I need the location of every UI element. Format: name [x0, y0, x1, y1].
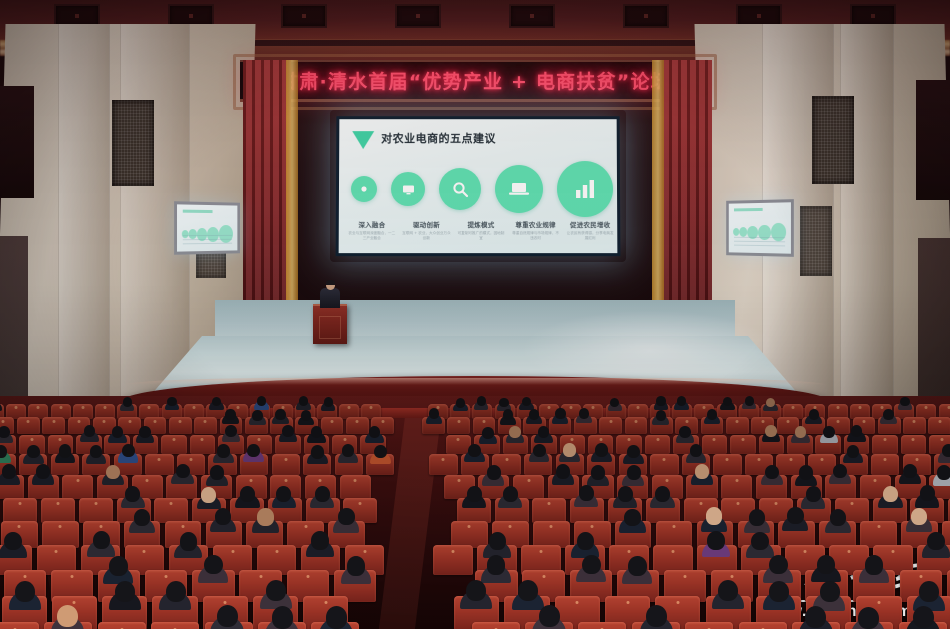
audience-head [109, 556, 128, 576]
audience-head [93, 531, 111, 550]
seat [901, 435, 927, 454]
audience-head [301, 410, 311, 421]
audience-head [123, 397, 132, 407]
slide-surface: 对农业电商的五点建议 深入 [339, 119, 618, 253]
wooden-podium [313, 304, 347, 344]
audience-head [217, 444, 230, 457]
audience-head [125, 486, 140, 502]
audience-head [577, 532, 595, 551]
audience-head [347, 556, 366, 576]
audience-head [0, 426, 10, 438]
audience-head [225, 409, 235, 420]
slide-item: 深入融合 农业与互联网深度融合，一二三产业融合 [347, 219, 397, 242]
audience-head [858, 607, 879, 629]
audience-head [745, 396, 754, 406]
left-dark-recess [0, 86, 34, 198]
seat [872, 435, 898, 454]
audience-head [106, 465, 120, 480]
right-acoustic-panel-2 [800, 206, 832, 276]
audience-head [311, 426, 323, 438]
audience-head [538, 426, 550, 438]
audience-head [809, 409, 819, 420]
audience-head [579, 408, 589, 419]
right-dark-recess-2 [918, 238, 950, 408]
audience-head [299, 396, 308, 406]
right-pilaster-1 [840, 24, 894, 444]
seat [685, 622, 733, 629]
seat [645, 435, 671, 454]
audience-head [942, 444, 950, 457]
audience-head [805, 606, 826, 628]
seat [161, 435, 187, 454]
audience-head [509, 426, 521, 438]
audience-head [579, 485, 594, 501]
seat [190, 435, 216, 454]
audience-head [833, 464, 847, 479]
left-side-monitor [174, 201, 240, 255]
led-banner: 甘肃·清水首届“优势产业 + 电商扶贫”论坛 [240, 60, 710, 102]
audience-head [628, 556, 647, 576]
slide-item-sub: 可复制可推广的模式，因地制宜 [456, 231, 506, 242]
seat [194, 417, 217, 434]
seat [169, 417, 192, 434]
audience-head [656, 396, 665, 406]
audience-head [920, 485, 935, 501]
audience-head [134, 509, 150, 526]
seat [272, 454, 300, 475]
right-acoustic-panel [812, 96, 854, 184]
slide-item-label: 尊重农业规律 [511, 219, 561, 229]
green-triangle-marker [352, 131, 374, 149]
slide-item-sub: 农业与互联网深度融合，一二三产业融合 [347, 231, 397, 242]
slide-item-labels: 深入融合 农业与互联网深度融合，一二三产业融合 驱动创新 互联网 + 农业，大众… [347, 219, 616, 242]
seat [321, 417, 344, 434]
audience-head [315, 486, 330, 502]
audience-head [247, 444, 260, 457]
audience-head [765, 425, 777, 437]
seat [721, 475, 752, 498]
audience-head [487, 465, 501, 480]
seat [625, 417, 648, 434]
audience-head [57, 605, 78, 627]
bar-chart-icon [557, 161, 613, 217]
seat [739, 622, 787, 629]
seat [903, 417, 926, 434]
audience-head [563, 443, 576, 456]
audience-head [115, 581, 135, 602]
audience-head [769, 581, 789, 602]
seat [730, 435, 756, 454]
audience-head [240, 486, 255, 502]
audience-head [4, 532, 22, 551]
audience-head [257, 508, 273, 525]
main-projection-screen: 对农业电商的五点建议 深入 [336, 116, 621, 256]
slide-item-sub: 互联网 + 农业，大众创业万众创新 [401, 231, 451, 242]
monitor-icon [391, 172, 425, 206]
curtain-gold-trim-right [652, 60, 664, 340]
audience-head [466, 580, 486, 601]
audience-head [204, 555, 223, 575]
seat [578, 622, 626, 629]
seat [346, 417, 369, 434]
audience-head [522, 397, 531, 407]
audience-head [489, 532, 507, 551]
seat [928, 417, 950, 434]
right-dark-recess [916, 80, 950, 200]
audience-head [817, 555, 836, 575]
audience-head [655, 486, 670, 502]
audience-head [718, 580, 738, 601]
right-side-monitor [726, 199, 794, 257]
audience-head [627, 465, 641, 480]
audience-head [624, 509, 640, 526]
slide-item: 驱动创新 互联网 + 农业，大众创业万众创新 [401, 219, 451, 242]
audience-head [723, 397, 732, 407]
audience-head [215, 508, 231, 525]
audience-head [15, 581, 35, 602]
seat [726, 417, 749, 434]
audience-head [903, 464, 917, 479]
search-icon [439, 168, 481, 210]
seat [0, 622, 39, 629]
slide-item-label: 促进农民增收 [565, 219, 615, 229]
audience-head [883, 409, 893, 420]
audience-head [556, 464, 570, 479]
audience-head [210, 465, 224, 480]
left-acoustic-panel [112, 100, 154, 186]
audience-head [900, 397, 909, 407]
audience-head [591, 465, 605, 480]
audience-head [36, 464, 50, 479]
audience-head [927, 532, 945, 551]
audience-head [787, 507, 803, 524]
audience-head [487, 555, 506, 575]
banner-text: 甘肃·清水首届“优势产业 + 电商扶贫”论坛 [279, 67, 671, 94]
audience-head [275, 409, 285, 420]
seat [145, 454, 173, 475]
auditorium-photo: 甘肃·清水首届“优势产业 + 电商扶贫”论坛 对农业电商的五点建议 [0, 0, 950, 629]
audience-head [706, 507, 722, 524]
left-side-monitor-screen [177, 204, 237, 251]
audience-head [482, 427, 494, 439]
audience-head [180, 532, 198, 551]
left-dark-recess-2 [0, 236, 28, 406]
dot-icon [351, 176, 377, 202]
audience-head [276, 486, 291, 502]
seat [702, 435, 728, 454]
audience-head [751, 532, 769, 551]
slide-item: 促进农民增收 让农民有获得感，分享电商发展红利 [565, 219, 615, 242]
seat [17, 417, 40, 434]
seat [871, 454, 899, 475]
audience-head [830, 509, 846, 526]
seat [79, 498, 113, 524]
audience-head [499, 398, 508, 408]
seat [713, 454, 741, 475]
seat [98, 622, 146, 629]
audience-head [282, 425, 294, 437]
left-pilaster-1 [58, 24, 110, 444]
seat [472, 622, 520, 629]
audience-head [311, 531, 329, 550]
stage-edge-highlight [124, 378, 826, 385]
audience-head [166, 581, 186, 602]
presenter-body [320, 288, 340, 308]
ceiling-panel [623, 4, 669, 28]
audience-head [225, 425, 237, 437]
seat [532, 498, 566, 524]
slide-item-sub: 让农民有获得感，分享电商发展红利 [565, 231, 615, 242]
presenter-hair [326, 280, 335, 285]
audience-head [326, 606, 347, 628]
audience-head [167, 397, 176, 407]
side-monitor-text-lines [183, 234, 232, 244]
audience-head [823, 426, 835, 438]
audience-head [257, 396, 266, 406]
slide-item: 提炼模式 可复制可推广的模式，因地制宜 [456, 219, 506, 242]
audience-head [806, 486, 821, 502]
slide-item: 尊重农业规律 尊重自然规律与市场规律，不违农时 [511, 219, 561, 242]
audience-head [176, 464, 190, 479]
audience-head [468, 444, 481, 457]
audience-head [749, 509, 765, 526]
audience-head [139, 426, 151, 438]
audience-head [112, 426, 124, 438]
ceiling-panel [281, 4, 327, 28]
audience-head [883, 486, 898, 502]
seat [340, 475, 371, 498]
audience-head [518, 580, 538, 601]
audience-head [679, 426, 691, 438]
audience-head [338, 508, 354, 525]
seat [650, 454, 678, 475]
audience-head [555, 408, 565, 419]
audience-head [59, 444, 72, 457]
audience-head [311, 445, 324, 458]
audience-head [707, 409, 717, 420]
audience-head [252, 410, 262, 421]
audience-head [456, 398, 465, 408]
seat [429, 454, 457, 475]
audience-head [595, 443, 608, 456]
audience-head [913, 606, 934, 628]
audience-head [529, 409, 539, 420]
audience-head [324, 397, 333, 407]
audience-head [911, 508, 927, 525]
slide-icon-circles [351, 161, 613, 217]
seat [433, 545, 473, 575]
audience-head [618, 486, 633, 502]
slide-item-label: 深入融合 [347, 219, 397, 229]
audience-head [467, 486, 482, 502]
audience-head [217, 605, 238, 627]
slide-item-label: 驱动创新 [401, 219, 451, 229]
audience-head [847, 445, 860, 458]
seat [3, 498, 37, 524]
ceiling-panel [395, 4, 441, 28]
audience-head [374, 445, 387, 458]
audience-head [656, 410, 666, 421]
stage-curtain-right [660, 60, 712, 340]
audience-head [582, 555, 601, 575]
audience-head [865, 555, 884, 575]
ceiling-panel [509, 4, 555, 28]
side-monitor-text-lines [734, 236, 785, 247]
seat [447, 417, 470, 434]
audience-head [272, 606, 293, 628]
audience-head [84, 425, 96, 437]
curtain-gold-trim-left [286, 60, 298, 340]
audience-head [695, 464, 709, 479]
audience-head [122, 444, 135, 457]
center-aisle [379, 416, 441, 629]
audience-head [503, 486, 518, 502]
seat [154, 498, 188, 524]
audience-head [533, 444, 546, 457]
seat [151, 622, 199, 629]
audience-head [2, 464, 16, 479]
slide-item-label: 提炼模式 [456, 219, 506, 229]
side-monitor-title-bar [183, 210, 213, 213]
audience-head [477, 396, 486, 406]
right-side-monitor-screen [729, 202, 791, 253]
audience-head [765, 465, 779, 480]
audience-head [769, 555, 788, 575]
audience-head [799, 465, 813, 480]
stage-floor-rear [215, 300, 735, 340]
slide-title: 对农业电商的五点建议 [381, 130, 496, 146]
seat [41, 498, 75, 524]
audience-head [627, 445, 640, 458]
audience-head [201, 487, 216, 503]
seat [42, 417, 65, 434]
seat [62, 475, 93, 498]
audience-head [369, 426, 381, 438]
audience-head [820, 581, 840, 602]
stage-curtain-left [243, 60, 291, 340]
audience-head [539, 605, 560, 627]
laptop-icon [495, 165, 543, 213]
audience-head [937, 465, 950, 480]
audience-head [707, 531, 725, 550]
side-monitor-title-bar [734, 208, 763, 211]
seat [599, 417, 622, 434]
slide-item-sub: 尊重自然规律与市场规律，不违农时 [511, 231, 561, 242]
audience-head [266, 580, 286, 601]
audience-head [646, 605, 667, 627]
audience-head [919, 581, 939, 602]
